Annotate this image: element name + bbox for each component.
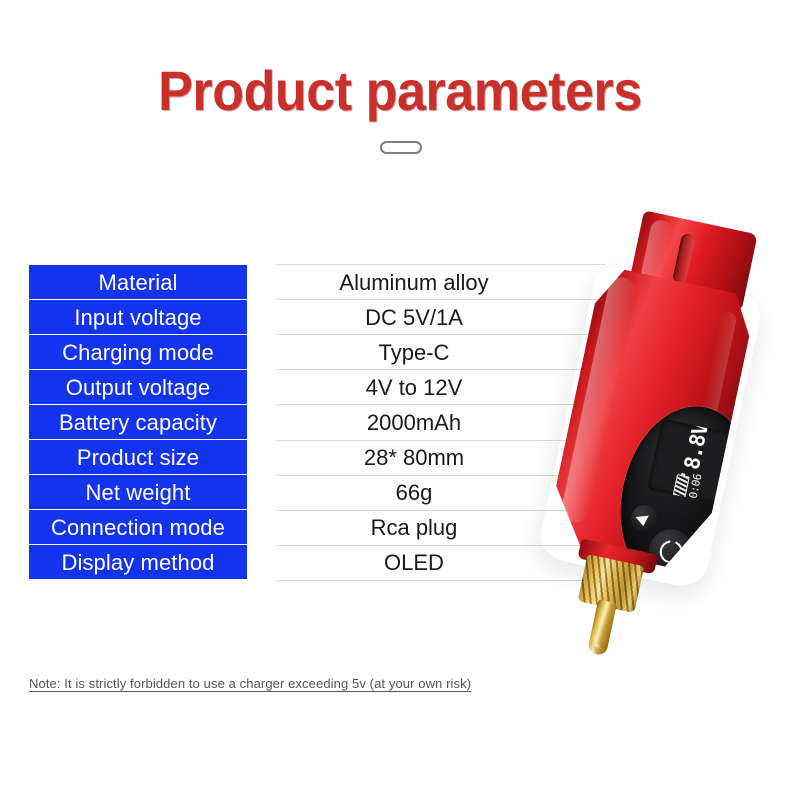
table-row: Input voltageDC 5V/1A <box>29 299 581 334</box>
rca-connector-pin <box>587 599 617 656</box>
spec-label: Charging mode <box>29 335 247 369</box>
up-button[interactable] <box>629 503 660 534</box>
display-voltage: 8.8V <box>681 421 712 471</box>
spec-label: Display method <box>29 545 247 579</box>
device-photo: 00:06 8.8V <box>461 181 800 685</box>
device-body: 00:06 8.8V <box>544 265 757 574</box>
product-parameters-page: Product parameters MaterialAluminum allo… <box>0 0 800 800</box>
oled-display: 00:06 8.8V <box>647 419 738 506</box>
spec-label: Output voltage <box>29 370 247 404</box>
table-row: MaterialAluminum alloy <box>29 264 581 299</box>
cap-groove <box>672 233 696 285</box>
down-button[interactable] <box>696 533 727 564</box>
table-row: Output voltage4V to 12V <box>29 369 581 404</box>
power-icon <box>657 538 684 565</box>
table-row: Battery capacity2000mAh <box>29 404 581 439</box>
arrow-up-icon <box>636 511 653 526</box>
spec-label: Input voltage <box>29 300 247 334</box>
page-title: Product parameters <box>28 62 772 120</box>
spec-label: Net weight <box>29 475 247 509</box>
spec-label: Product size <box>29 440 247 474</box>
spec-label: Connection mode <box>29 510 247 544</box>
spec-label: Battery capacity <box>29 405 247 439</box>
spec-label: Material <box>29 265 247 299</box>
arrow-down-icon <box>703 541 720 556</box>
table-row: Charging modeType-C <box>29 334 581 369</box>
title-underline-pill <box>380 141 422 154</box>
warning-note: Note: It is strictly forbidden to use a … <box>29 676 471 691</box>
spec-value: Aluminum alloy <box>247 265 581 299</box>
